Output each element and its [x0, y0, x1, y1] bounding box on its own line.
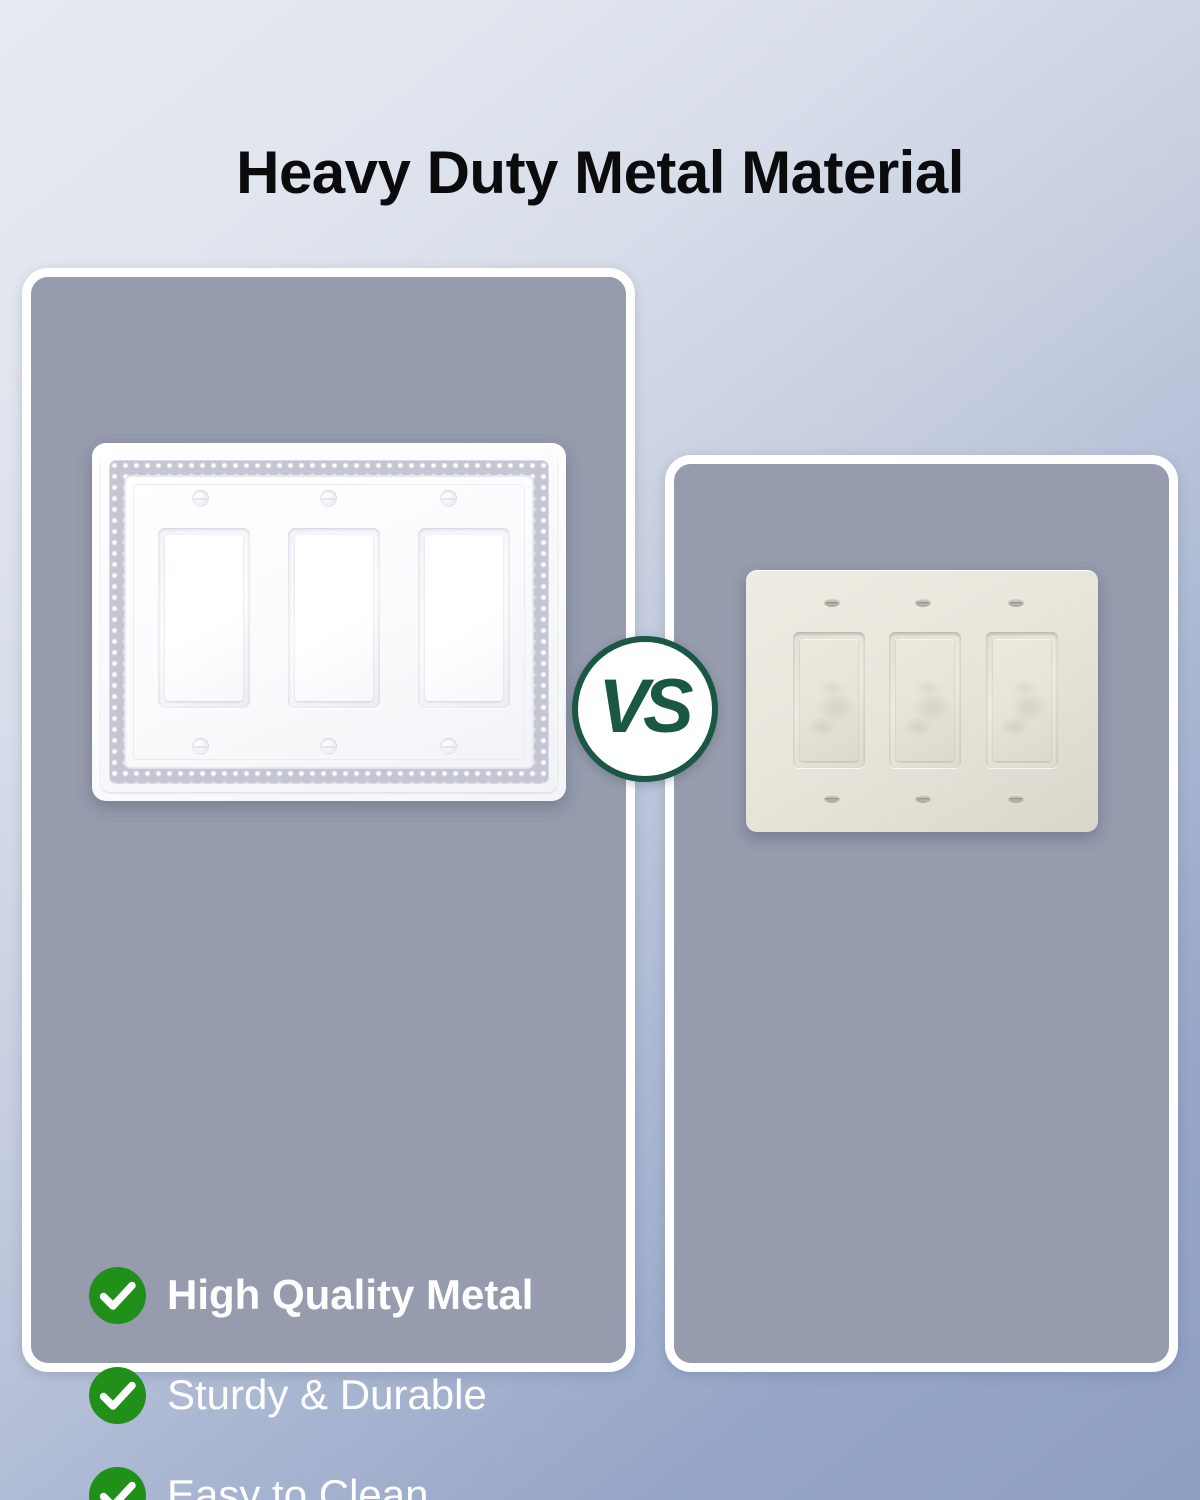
- vs-badge: VS: [572, 636, 718, 782]
- screw-icon: [915, 598, 931, 607]
- plastic-switch-row: [793, 632, 1058, 768]
- metal-feature-list: High Quality Metal Sturdy & Durable Easy…: [89, 1245, 634, 1500]
- plastic-rocker-switch: [889, 632, 961, 768]
- screw-icon: [440, 490, 457, 507]
- screw-icon: [1008, 794, 1024, 803]
- screw-icon: [192, 738, 209, 755]
- metal-rocker-paddle: [165, 535, 243, 701]
- metal-rocker-switch: [288, 528, 380, 708]
- metal-rocker-paddle: [425, 535, 503, 701]
- plastic-rocker-switch: [793, 632, 865, 768]
- comparison-card-metal: High Quality Metal Sturdy & Durable Easy…: [22, 268, 635, 1372]
- screw-icon: [824, 598, 840, 607]
- plastic-wall-plate: [746, 570, 1098, 832]
- screw-icon: [440, 738, 457, 755]
- metal-rocker-switch: [418, 528, 510, 708]
- plastic-rocker-switch: [986, 632, 1058, 768]
- screw-icon: [320, 490, 337, 507]
- check-icon: [89, 1367, 146, 1424]
- plastic-rocker-paddle: [800, 639, 858, 761]
- feature-label: Easy to Clean: [167, 1474, 428, 1500]
- check-icon: [89, 1267, 146, 1324]
- feature-label: Sturdy & Durable: [167, 1374, 487, 1416]
- screw-icon: [1008, 598, 1024, 607]
- feature-row-easy-to-clean: Easy to Clean: [89, 1445, 634, 1500]
- comparison-card-plastic: Poor Quality Plastic Easy to Crack Easy …: [665, 455, 1178, 1372]
- feature-row-high-quality-metal: High Quality Metal: [89, 1245, 634, 1345]
- plastic-rocker-paddle: [993, 639, 1051, 761]
- feature-row-sturdy-durable: Sturdy & Durable: [89, 1345, 634, 1445]
- metal-product-image: [31, 443, 626, 823]
- screw-icon: [320, 738, 337, 755]
- feature-label: High Quality Metal: [167, 1274, 533, 1316]
- comparison-infographic: Heavy Duty Metal Material: [0, 0, 1200, 1500]
- screw-icon: [192, 490, 209, 507]
- screw-icon: [824, 794, 840, 803]
- metal-rocker-paddle: [295, 535, 373, 701]
- page-title: Heavy Duty Metal Material: [0, 138, 1200, 207]
- screw-icon: [915, 794, 931, 803]
- metal-wall-plate: [92, 443, 566, 801]
- check-icon: [89, 1467, 146, 1500]
- vs-badge-label: VS: [598, 669, 687, 745]
- plastic-rocker-paddle: [896, 639, 954, 761]
- metal-rocker-switch: [158, 528, 250, 708]
- plastic-product-image: [674, 570, 1169, 858]
- metal-switch-row: [158, 528, 510, 708]
